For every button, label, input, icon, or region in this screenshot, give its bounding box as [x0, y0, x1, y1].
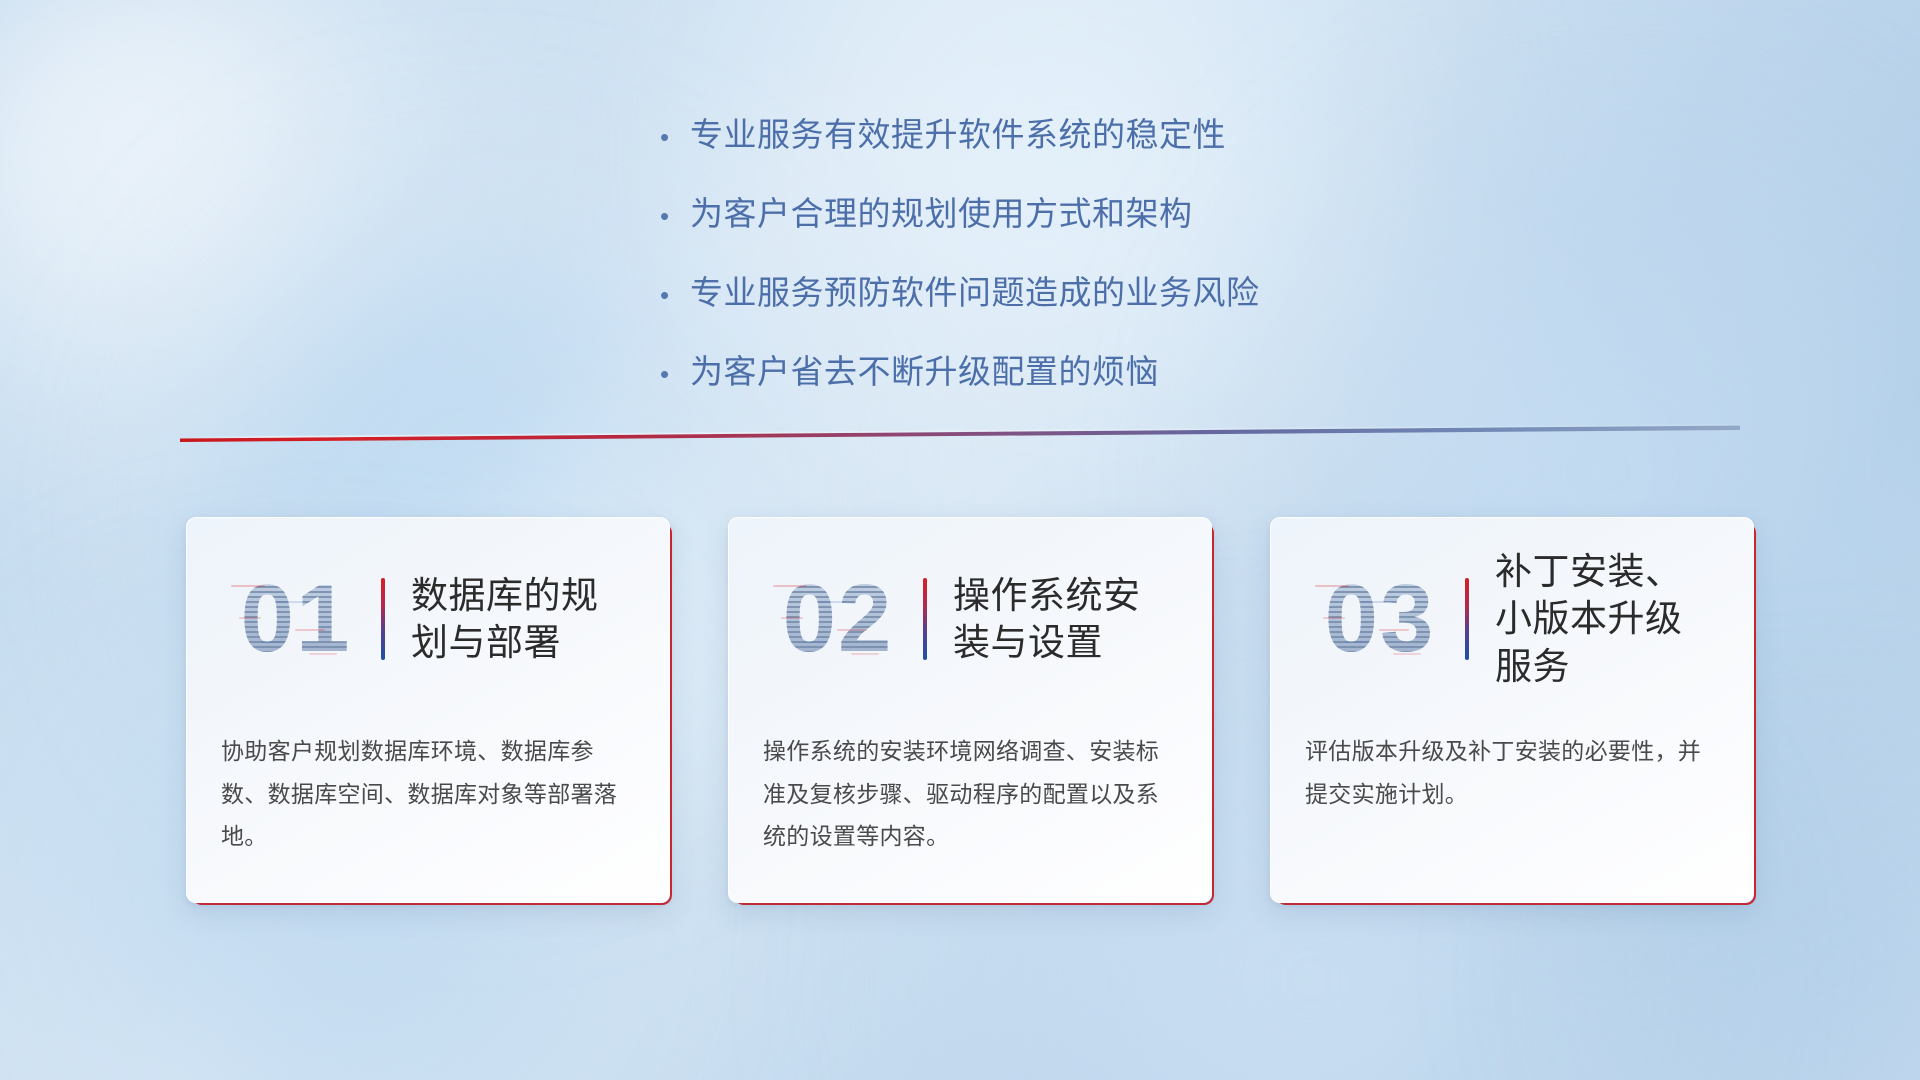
bullet-text-3: 专业服务预防软件问题造成的业务风险 — [690, 266, 1260, 314]
service-card-03[interactable]: 03 补丁安装、小版本升级服务 评估版本升级及补丁安装的必要性，并提交实施计划。 — [1270, 517, 1754, 903]
service-card-01[interactable]: 01 数据库的规划与部署 协助客户规划数据库环境、数据库参数、数据库空间、数据库… — [186, 517, 670, 903]
card-header: 03 补丁安装、小版本升级服务 — [1305, 560, 1719, 678]
card-title-02: 操作系统安装与设置 — [953, 572, 1177, 667]
card-number-stripe-overlay — [763, 571, 913, 667]
divider-shape-icon — [180, 423, 1740, 447]
list-item: • 为客户合理的规划使用方式和架构 — [660, 187, 1260, 235]
card-surface: 01 数据库的规划与部署 协助客户规划数据库环境、数据库参数、数据库空间、数据库… — [186, 517, 670, 903]
card-surface: 02 操作系统安装与设置 操作系统的安装环境网络调查、安装标准及复核步骤、驱动程… — [728, 517, 1212, 903]
card-number-01: 01 — [221, 571, 371, 667]
service-card-02[interactable]: 02 操作系统安装与设置 操作系统的安装环境网络调查、安装标准及复核步骤、驱动程… — [728, 517, 1212, 903]
card-number-stripe-overlay — [221, 571, 371, 667]
card-header: 02 操作系统安装与设置 — [763, 560, 1177, 678]
bullet-dot-icon: • — [660, 124, 690, 150]
card-body-01: 协助客户规划数据库环境、数据库参数、数据库空间、数据库对象等部署落地。 — [221, 730, 635, 858]
card-divider-rule-icon — [1465, 578, 1469, 660]
card-title-03: 补丁安装、小版本升级服务 — [1495, 548, 1719, 690]
bullet-dot-icon: • — [660, 282, 690, 308]
service-card-list: 01 数据库的规划与部署 协助客户规划数据库环境、数据库参数、数据库空间、数据库… — [186, 517, 1754, 903]
bullet-dot-icon: • — [660, 361, 690, 387]
card-divider-rule-icon — [923, 578, 927, 660]
section-divider — [180, 423, 1740, 447]
card-header: 01 数据库的规划与部署 — [221, 560, 635, 678]
card-title-01: 数据库的规划与部署 — [411, 572, 635, 667]
bullet-dot-icon: • — [660, 203, 690, 229]
benefits-bullet-list: • 专业服务有效提升软件系统的稳定性 • 为客户合理的规划使用方式和架构 • 专… — [660, 108, 1260, 424]
card-number-stripe-overlay — [1305, 571, 1455, 667]
bullet-text-4: 为客户省去不断升级配置的烦恼 — [690, 345, 1159, 393]
list-item: • 专业服务预防软件问题造成的业务风险 — [660, 266, 1260, 314]
list-item: • 为客户省去不断升级配置的烦恼 — [660, 345, 1260, 393]
card-number-02: 02 — [763, 571, 913, 667]
card-surface: 03 补丁安装、小版本升级服务 评估版本升级及补丁安装的必要性，并提交实施计划。 — [1270, 517, 1754, 903]
card-divider-rule-icon — [381, 578, 385, 660]
card-body-02: 操作系统的安装环境网络调查、安装标准及复核步骤、驱动程序的配置以及系统的设置等内… — [763, 730, 1177, 858]
bullet-text-1: 专业服务有效提升软件系统的稳定性 — [690, 108, 1226, 156]
card-number-03: 03 — [1305, 571, 1455, 667]
bullet-text-2: 为客户合理的规划使用方式和架构 — [690, 187, 1193, 235]
list-item: • 专业服务有效提升软件系统的稳定性 — [660, 108, 1260, 156]
card-body-03: 评估版本升级及补丁安装的必要性，并提交实施计划。 — [1305, 730, 1719, 815]
